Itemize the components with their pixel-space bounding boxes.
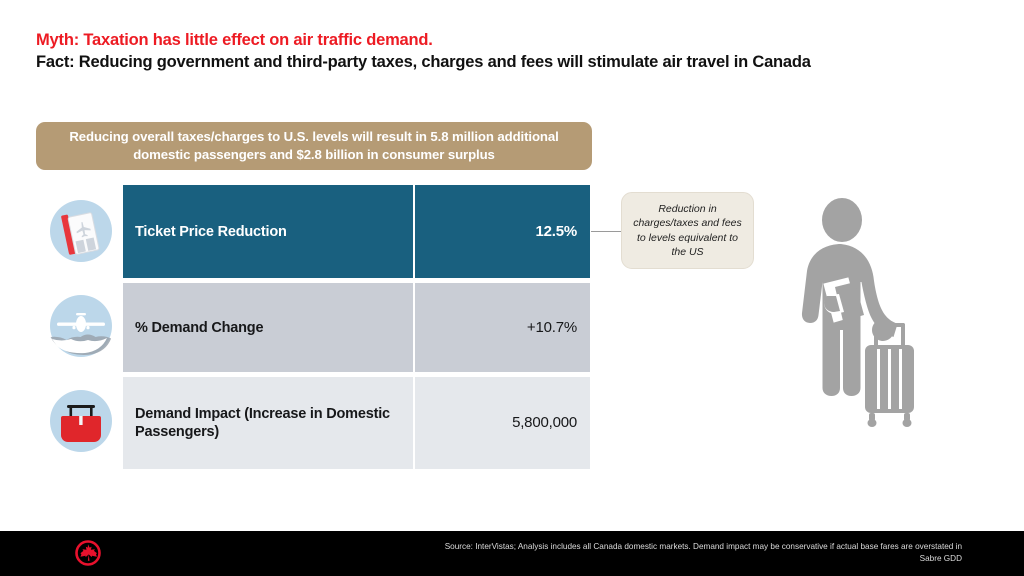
table-cell-label: % Demand Change <box>123 283 413 372</box>
page-title: Myth: Taxation has little effect on air … <box>36 30 996 73</box>
key-finding-banner: Reducing overall taxes/charges to U.S. l… <box>36 122 592 170</box>
source-note: Source: InterVistas; Analysis includes a… <box>442 541 962 565</box>
table-cell-value: +10.7% <box>413 283 590 372</box>
table-row: Ticket Price Reduction 12.5% <box>123 185 590 278</box>
table-cell-label: Ticket Price Reduction <box>123 185 413 278</box>
row-label: Demand Impact (Increase in Domestic Pass… <box>135 405 405 441</box>
row-label: Ticket Price Reduction <box>135 223 287 241</box>
callout-connector-line <box>591 231 622 232</box>
column-divider <box>413 185 415 278</box>
row-value: 12.5% <box>535 223 577 241</box>
table-cell-value: 5,800,000 <box>413 377 590 469</box>
callout-box: Reduction in charges/taxes and fees to l… <box>621 192 754 269</box>
column-divider <box>413 377 415 469</box>
table-cell-label: Demand Impact (Increase in Domestic Pass… <box>123 377 413 469</box>
row-value: +10.7% <box>527 319 577 337</box>
row-value: 5,800,000 <box>512 414 577 432</box>
callout-text: Reduction in charges/taxes and fees to l… <box>629 202 746 260</box>
table-row: Demand Impact (Increase in Domestic Pass… <box>123 377 590 469</box>
traveler-with-suitcase-illustration <box>795 195 955 443</box>
air-canada-rondelle-logo <box>74 539 102 567</box>
table-row: % Demand Change +10.7% <box>123 283 590 372</box>
airplane-front-icon <box>48 293 114 359</box>
suitcase-icon <box>48 388 114 454</box>
key-finding-banner-text: Reducing overall taxes/charges to U.S. l… <box>50 128 578 164</box>
row-label: % Demand Change <box>135 319 263 337</box>
boarding-pass-icon <box>48 198 114 264</box>
headline-fact-line: Fact: Reducing government and third-part… <box>36 51 996 73</box>
headline-myth-line: Myth: Taxation has little effect on air … <box>36 30 996 51</box>
column-divider <box>413 283 415 372</box>
results-table: Ticket Price Reduction 12.5% % Demand Ch… <box>123 185 590 469</box>
table-cell-value: 12.5% <box>413 185 590 278</box>
